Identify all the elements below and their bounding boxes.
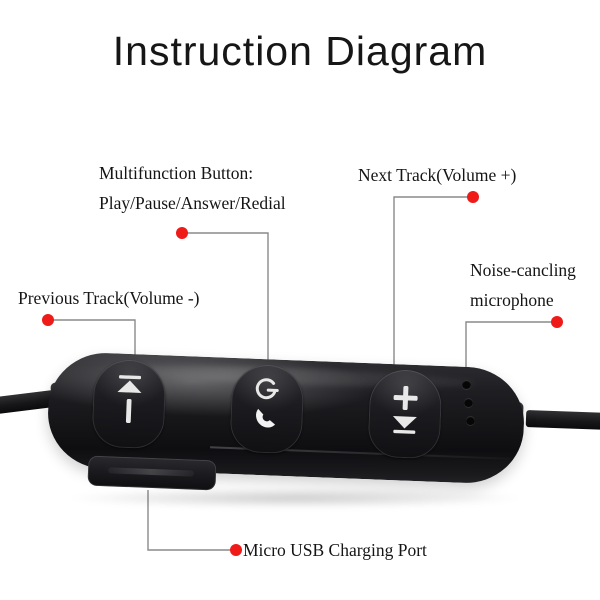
callout-label-next-track: Next Track(Volume +) (358, 160, 516, 190)
microphone-hole (462, 380, 471, 389)
instruction-diagram-page: Instruction Diagram Previous Track(Volum… (0, 0, 600, 600)
callout-dot-micro-usb-charging-port (230, 544, 242, 556)
micro-usb-port-cover[interactable] (87, 456, 216, 491)
microphone-hole (464, 398, 473, 407)
earphone-control-module (0, 340, 600, 540)
callout-label-line: Multifunction Button: (99, 158, 286, 188)
callout-label-line: Next Track(Volume +) (358, 160, 516, 190)
callout-label-line: Noise-cancling (470, 255, 576, 285)
callout-label-previous-track: Previous Track(Volume -) (18, 283, 199, 313)
callout-dot-multifunction-button (176, 227, 188, 239)
button-glyphs (368, 377, 442, 442)
previous-track-volume-down-button[interactable] (91, 359, 166, 450)
microphone-hole (466, 416, 475, 425)
next-track-icon (389, 413, 420, 434)
callout-dot-next-track (467, 191, 479, 203)
previous-track-icon (114, 374, 145, 395)
callout-label-line: microphone (470, 285, 576, 315)
right-earbud-cable (526, 410, 600, 430)
callout-label-line: Play/Pause/Answer/Redial (99, 188, 286, 218)
device-ground-shadow (70, 488, 520, 508)
callout-dot-previous-track (42, 314, 54, 326)
power-icon (254, 376, 281, 403)
callout-dot-noise-cancling-microphone (551, 316, 563, 328)
multifunction-button[interactable] (229, 364, 304, 455)
button-glyphs (92, 367, 166, 432)
next-track-volume-up-button[interactable] (367, 369, 442, 460)
callout-label-line: Previous Track(Volume -) (18, 283, 199, 313)
port-cover-notch (108, 467, 194, 476)
phone-handset-icon (252, 405, 281, 432)
button-glyphs (230, 372, 304, 437)
plus-icon (392, 384, 419, 411)
callout-label-noise-cancling-microphone: Noise-cancling microphone (470, 255, 576, 315)
minus-icon (122, 397, 135, 423)
callout-label-multifunction-button: Multifunction Button: Play/Pause/Answer/… (99, 158, 286, 218)
